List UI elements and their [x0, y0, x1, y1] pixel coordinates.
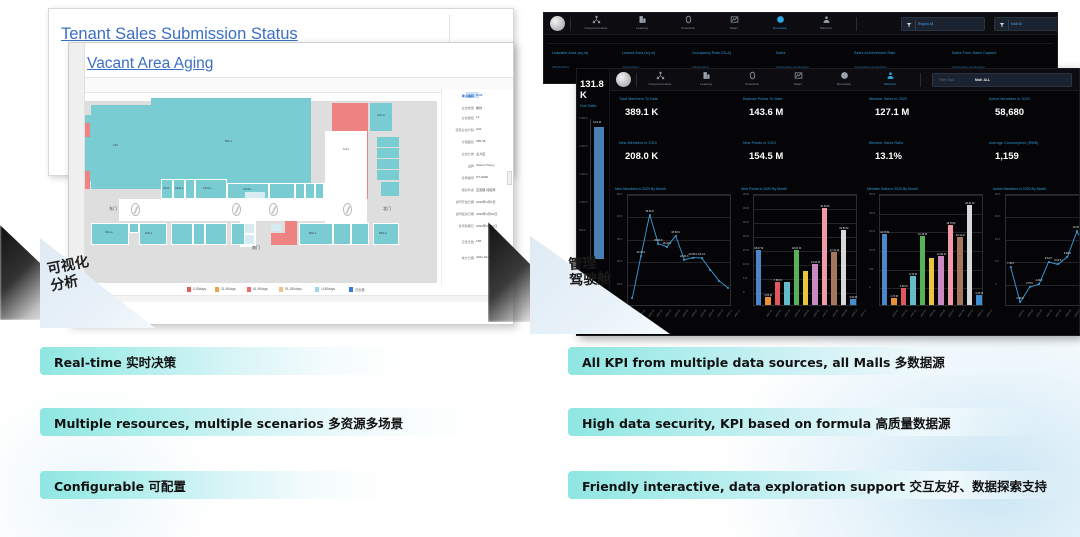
region-filter[interactable]: Region All: [901, 17, 985, 31]
chart-new-points[interactable]: New Points in 2020 By Month 35 M30 M25 M…: [741, 187, 859, 332]
feature-pill-label: Configurable 可配置: [54, 476, 186, 495]
kpi-value: 1,159: [995, 151, 1019, 162]
kpi-label: Sales: [776, 51, 786, 55]
floorplan-unit-vacant[interactable]: [271, 233, 285, 245]
chart-active-members[interactable]: Active Members in 2020 By Month 20 K15 K…: [993, 187, 1080, 332]
chart-bar[interactable]: [775, 282, 780, 305]
chart-bar[interactable]: [850, 299, 855, 305]
escalator-icon: [232, 203, 241, 216]
chart-xtick: 2020-11: [725, 309, 732, 318]
chart-bar[interactable]: [794, 250, 799, 305]
legend-label: 91-180days: [285, 287, 302, 291]
feature-pill-label: Friendly interactive, data exploration s…: [582, 476, 1047, 495]
detail-header-value: S-01: [476, 93, 483, 97]
feature-pill-security: High data security, KPI based on formula…: [568, 408, 1036, 436]
floorplan-unit-label: A016-L: [243, 189, 252, 192]
floorplan-unit[interactable]: [377, 170, 399, 180]
chart-xtick: 2020-08: [699, 309, 706, 318]
foot-traffic-bar[interactable]: [594, 127, 604, 259]
detail-row-key: 合同到期日: [459, 223, 474, 228]
chart-bar-label: 2.02 M: [845, 296, 861, 299]
kpi-value: 389.1 K: [625, 107, 658, 118]
legend-label: >180days: [321, 287, 335, 291]
person-icon: [822, 15, 831, 24]
chart-xtick: 2020-01: [1017, 309, 1024, 318]
chart-xtick: 2020-04: [794, 309, 801, 318]
nav-label: Comprehensive: [576, 26, 616, 30]
foot-traffic-label: Foot Traffic: [580, 104, 596, 108]
floorplan-unit[interactable]: [377, 148, 399, 158]
chart-bar[interactable]: [784, 282, 789, 305]
mall-filter[interactable]: Filter Mall: Mall: ALL: [932, 73, 1072, 87]
chart-ytick: 20 K: [995, 193, 1000, 196]
chart-ytick: 25 M: [869, 193, 875, 196]
nav-label: Member: [870, 82, 910, 86]
chart-ytick: 35 M: [743, 193, 749, 196]
chart-point-label: 8.02 K: [1049, 259, 1068, 262]
nav-separator: [636, 73, 637, 87]
mall-filter-label: Mall All: [1011, 22, 1022, 26]
chart-ytick: 30 K: [617, 238, 622, 241]
nav-item-member[interactable]: Member: [870, 71, 910, 90]
nav-item-sales[interactable]: Sales: [714, 15, 754, 34]
kpi-value: 58,680: [995, 107, 1024, 118]
member-dashboard-window[interactable]: 131.8 K Foot Traffic 2 500 K 2 000 K 1 5…: [576, 68, 1080, 336]
chart-point-label: 9.49 K: [1058, 252, 1077, 255]
chart-xtick: 2020-08: [831, 309, 838, 318]
floorplan-unit[interactable]: [171, 223, 193, 245]
kpi-row-divider: [548, 43, 1053, 44]
feature-pill-configurable: Configurable 可配置: [40, 471, 385, 499]
legend-label: 0-30days: [193, 287, 206, 291]
chart-point-label: 33.63 K: [667, 231, 684, 234]
floorplan-legend: 0-30days 31-60days 61-90days 91-180days …: [187, 285, 387, 294]
chart-plot-area: 20 K15 K10 K5 K07.46 K0.90 K3.75 K4.30 K…: [1005, 194, 1080, 306]
chart-xtick: 2020-09: [841, 309, 848, 318]
nav-label: Leasing: [686, 82, 726, 86]
mall-filter-prefix: Filter Mall:: [939, 78, 955, 82]
building-icon: [638, 15, 647, 24]
floorplan-unit-label: S-01: [343, 149, 349, 152]
chart-data-point[interactable]: [649, 214, 651, 216]
chart-xtick: 2020-03: [784, 309, 791, 318]
chart-ytick: 10 M: [869, 249, 875, 252]
detail-row-key: 计租面积: [462, 139, 474, 144]
floorplan-unit[interactable]: [205, 223, 227, 245]
kpi-value: 154.5 M: [749, 151, 783, 162]
chart-xtick: 2020-06: [1065, 309, 1072, 318]
detail-row-value: HT-0048: [476, 175, 488, 179]
chart-data-point[interactable]: [692, 257, 694, 259]
legend-swatch: [215, 287, 219, 291]
chart-plot-area: 25 M20 M15 M10 M5 M016.75 M1.70 M4.09 M6…: [879, 194, 983, 306]
chart-ytick: 15 M: [869, 230, 875, 233]
pie-icon: [840, 71, 849, 80]
chart-xtick: 2020-05: [673, 309, 680, 318]
chart-bar-label: 23.61 M: [962, 202, 978, 205]
nav-item-sales[interactable]: Sales: [778, 71, 818, 90]
chart-plot-area: 50 K40 K30 K20 K10 K24.23 K43.62 K29.90 …: [627, 194, 731, 306]
legend-label: 已出租: [355, 287, 365, 292]
escalator-icon: [269, 203, 278, 216]
detail-row-value: L1: [476, 115, 479, 119]
chart-xtick: 2020-07: [822, 309, 829, 318]
floorplan-canvas[interactable]: 东门 北门 南门 A01 B01-L S-01 C01-A A010: [85, 93, 437, 283]
chart-xtick: 2020-02: [647, 309, 654, 318]
kpi-label: Average Consumption (RMB): [989, 141, 1038, 145]
kpi-value: 208.0 K: [625, 151, 658, 162]
chart-xtick: 2020-05: [803, 309, 810, 318]
chart-bar-label: 2.25 M: [971, 292, 987, 295]
chart-title: Active Members in 2020 By Month: [993, 187, 1046, 191]
axis-tick: 2 500 K: [579, 117, 588, 120]
nav-label: Operation: [760, 26, 800, 30]
floorplan-unit[interactable]: [269, 183, 295, 199]
chart-bar[interactable]: [910, 276, 915, 305]
nav-item-operation[interactable]: Operation: [760, 15, 800, 34]
chart-title: New Points in 2020 By Month: [741, 187, 787, 191]
kpi-label: Sales Achievement Rate: [854, 51, 895, 55]
chart-bar[interactable]: [948, 225, 953, 305]
chart-xtick: 2020-04: [665, 309, 672, 318]
floorplan-unit[interactable]: [377, 159, 399, 169]
chart-xtick: 2020-09: [708, 309, 715, 318]
chart-bar[interactable]: [831, 252, 836, 305]
chart-bar[interactable]: [765, 297, 770, 305]
chart-data-point[interactable]: [666, 246, 668, 248]
filter-separator: [1008, 20, 1009, 30]
vacant-area-aging-title: Vacant Area Aging: [87, 55, 213, 73]
nav-item-financial[interactable]: Financial: [732, 71, 772, 90]
floorplan-unit[interactable]: [129, 223, 139, 233]
chart-gridline: [880, 195, 982, 196]
nav-item-member[interactable]: Member: [806, 15, 846, 34]
chart-data-point[interactable]: [727, 287, 729, 289]
escalator-icon: [131, 203, 140, 216]
chart-xtick: 2020-02: [775, 309, 782, 318]
axis-tick: 500 K: [579, 229, 586, 232]
floorplan-unit-vacant[interactable]: [85, 171, 90, 189]
kpi-label: Sales From Sales Capture: [952, 51, 997, 55]
chart-xtick: 2020-02: [1027, 309, 1034, 318]
chart-bar[interactable]: [929, 258, 934, 305]
chart-point-label: 7.46 K: [1001, 262, 1020, 265]
chart-gridline: [754, 223, 856, 224]
floorplan-unit-label: A012-L: [175, 188, 184, 191]
detail-row-key: 合同开始日期: [455, 199, 474, 204]
detail-row-key: 业态分类: [462, 151, 474, 156]
trend-icon: [730, 15, 739, 24]
kpi-sublabel: (03/31/2021): [552, 65, 569, 69]
kpi-label: Member Sales in 2020: [869, 97, 907, 101]
nav-label: Operation: [824, 82, 864, 86]
chart-bar-label: 18.79 M: [943, 222, 959, 225]
coin-icon: [748, 71, 757, 80]
chart-data-point[interactable]: [675, 235, 677, 237]
feature-pill-label: Multiple resources, multiple scenarios 多…: [54, 413, 403, 432]
legend-label: 61-90days: [253, 287, 268, 291]
coin-icon: [684, 15, 693, 24]
chart-bar[interactable]: [901, 288, 906, 305]
chart-ytick: 25 M: [743, 221, 749, 224]
legend-swatch: [279, 287, 283, 291]
kpi-value: 13.1%: [875, 151, 902, 162]
chart-bar[interactable]: [976, 295, 981, 305]
floorplan-unit-label: D02-L: [145, 233, 153, 236]
chart-ytick: 20 M: [743, 235, 749, 238]
chart-xtick: 2020-05: [929, 309, 936, 318]
chart-xtick: 2020-04: [1046, 309, 1053, 318]
floorplan-unit[interactable]: [271, 224, 281, 231]
floorplan-unit[interactable]: [91, 105, 151, 189]
feature-pill-label: High data security, KPI based on formula…: [582, 413, 951, 432]
chart-bar[interactable]: [812, 264, 817, 305]
kpi-label: Active Members in 2020: [989, 97, 1030, 101]
mall-filter-value: Mall: ALL: [975, 78, 990, 82]
panel-scroll-handle[interactable]: [507, 171, 512, 185]
chart-bar[interactable]: [841, 230, 846, 305]
detail-row-key: 品牌: [468, 163, 474, 168]
chart-member-sales[interactable]: Member Sales in 2020 By Month 25 M20 M15…: [867, 187, 985, 332]
detail-row-value: Sweet Honey: [476, 163, 494, 167]
floorplan-unit-vacant[interactable]: [285, 221, 297, 245]
detail-row-key: 经营业态代码: [455, 127, 474, 132]
kpi-label: Balance Points To Date: [743, 97, 783, 101]
floorplan-unit-label: A01: [113, 145, 118, 148]
feature-pill-realtime: Real-time 实时决策: [40, 347, 400, 375]
nav-separator: [570, 17, 571, 31]
nav-separator: [856, 17, 857, 31]
chart-gridline: [754, 209, 856, 210]
legend-swatch: [247, 287, 251, 291]
nav-item-leasing[interactable]: Leasing: [686, 71, 726, 90]
chart-bar[interactable]: [891, 298, 896, 305]
app-logo-icon: [616, 72, 631, 87]
chart-gridline: [754, 195, 856, 196]
floorplan-unit[interactable]: [381, 182, 399, 196]
detail-row-value: 空置期 待招商: [476, 187, 495, 192]
kpi-label: Member Sales Ratio: [869, 141, 903, 145]
chart-xtick: 2020-01: [765, 309, 772, 318]
chart-xtick: 2020-03: [656, 309, 663, 318]
detail-row-value: 2019年4月1日: [476, 199, 496, 204]
nav-item-financial[interactable]: Financial: [668, 15, 708, 34]
escalator-icon: [343, 203, 352, 216]
chart-bar-label: 16.18 M: [915, 233, 931, 236]
kpi-label: Occupancy Rate (GLA): [692, 51, 731, 55]
building-icon: [702, 71, 711, 80]
window-status-bar: [85, 295, 514, 302]
chart-bar[interactable]: [967, 205, 972, 305]
chart-ytick: 5 M: [743, 277, 747, 280]
chart-bar-label: 18.01 M: [789, 247, 805, 250]
nav-label: Sales: [778, 82, 818, 86]
chart-xtick: 2020-06: [682, 309, 689, 318]
chart-bar-label: 18.27 M: [751, 247, 767, 250]
chart-ytick: 10 M: [743, 263, 749, 266]
funnel-icon: [999, 21, 1005, 29]
detail-row-value: 2024年3月31日: [476, 211, 497, 216]
detail-row-value: 2024年3月31日: [476, 223, 497, 228]
pie-icon: [776, 15, 785, 24]
floorplan-unit[interactable]: [245, 235, 254, 244]
axis-line: [590, 119, 591, 259]
feature-pill-friendly: Friendly interactive, data exploration s…: [568, 471, 1068, 499]
chart-point-label: 14.25 K: [1067, 226, 1080, 229]
floorplan-door-label: 南门: [252, 245, 260, 251]
kpi-label: Leased Area (sq.m): [622, 51, 655, 55]
slide-canvas: Tenant Sales Submission Status Vacant Ar…: [0, 0, 1080, 537]
floorplan-unit[interactable]: [245, 224, 254, 233]
nav-item-leasing[interactable]: Leasing: [622, 15, 662, 34]
chart-ytick: 15 M: [743, 249, 749, 252]
chart-xtick: 2020-04: [920, 309, 927, 318]
detail-row-key: 业态层级: [462, 115, 474, 120]
detail-row-key: 业态类型: [462, 105, 474, 110]
chart-ytick: 10 K: [995, 238, 1000, 241]
detail-row-value: A01: [476, 127, 482, 131]
feature-pill-label: All KPI from multiple data sources, all …: [582, 352, 945, 371]
floorplan-unit-label: B01-L: [225, 141, 232, 144]
chart-xtick: 2020-08: [957, 309, 964, 318]
network-icon: [592, 15, 601, 24]
feature-pill-allkpi: All KPI from multiple data sources, all …: [568, 347, 1036, 375]
axis-tick: 2 000 K: [579, 145, 588, 148]
nav-label: Financial: [732, 82, 772, 86]
chart-ytick: 0: [869, 286, 870, 289]
vacant-area-aging-window[interactable]: Vacant Area Aging: [68, 42, 514, 325]
chart-plot-area: 35 M30 M25 M20 M15 M10 M5 M018.27 M2.52 …: [753, 194, 857, 306]
floorplan-unit-label: B05-A: [379, 233, 387, 236]
legend-swatch: [187, 287, 191, 291]
chart-ytick: 15 K: [995, 215, 1000, 218]
nav-item-comprehensive[interactable]: Comprehensive: [640, 71, 680, 90]
foot-traffic-bar-label: 3,13 M: [593, 121, 601, 124]
nav-label: Leasing: [622, 26, 662, 30]
floorplan-unit[interactable]: [377, 137, 399, 147]
chart-xtick: 2020-02: [901, 309, 908, 318]
trend-icon: [794, 71, 803, 80]
nav-label: Sales: [714, 26, 754, 30]
chart-bar[interactable]: [938, 256, 943, 305]
chart-title: Member Sales in 2020 By Month: [867, 187, 918, 191]
detail-row-key: 合同编号: [462, 175, 474, 180]
floorplan-unit[interactable]: [185, 179, 195, 199]
floorplan-unit-label: A014-L: [203, 188, 212, 191]
chart-xtick: 2020-01: [891, 309, 898, 318]
kpi-value: 127.1 M: [875, 107, 909, 118]
chart-bar[interactable]: [822, 208, 827, 305]
detail-row-value: 餐饮: [476, 105, 482, 110]
chart-point-label: 23.1 K: [693, 253, 710, 256]
detail-row-key: 空置天数: [462, 239, 474, 244]
nav-separator: [920, 73, 921, 87]
mall-filter[interactable]: Mall All: [994, 17, 1058, 31]
feature-pill-label: Real-time 实时决策: [54, 352, 176, 371]
floorplan-unit[interactable]: [245, 192, 265, 198]
chart-bar-label: 24.83 M: [836, 227, 852, 230]
axis-tick: 1 000 K: [579, 201, 588, 204]
background-glow-bottom-left: [0, 377, 220, 537]
detail-row-key: 合同结束日期: [455, 211, 474, 216]
filter-separator: [915, 20, 916, 30]
right-ribbon-label: 管理驾驶舱: [568, 253, 642, 289]
foot-traffic-value: 131.8 K: [580, 79, 609, 101]
chart-data-point[interactable]: [1029, 286, 1031, 288]
floorplan-unit[interactable]: [315, 183, 324, 199]
chart-ytick: 0: [743, 291, 744, 294]
chart-xtick: 2020-06: [939, 309, 946, 318]
kpi-label: Total Members To Date: [619, 97, 658, 101]
detail-row-value: 285.36: [476, 139, 485, 143]
chart-xtick: 2020-06: [813, 309, 820, 318]
chart-xtick: 2020-09: [967, 309, 974, 318]
chart-ytick: 50 K: [617, 193, 622, 196]
axis-tick: 1 500 K: [579, 173, 588, 176]
floorplan-unit[interactable]: [193, 223, 205, 245]
chart-bar[interactable]: [803, 271, 808, 305]
chart-data-point[interactable]: [718, 280, 720, 282]
dashboard-navbar-back[interactable]: Comprehensive Leasing Financial Sales Op…: [544, 13, 1057, 35]
chart-ytick: 40 K: [617, 215, 622, 218]
region-filter-label: Region All: [918, 22, 933, 26]
floorplan-unit[interactable]: [305, 183, 315, 199]
floorplan-door-label: 北门: [383, 206, 391, 212]
chart-point-label: 4.30 K: [1030, 279, 1049, 282]
detail-row-value: 主力店: [476, 151, 485, 156]
chart-ytick: 30 M: [743, 207, 749, 210]
floorplan-unit[interactable]: [231, 223, 245, 245]
floorplan-unit[interactable]: [333, 223, 351, 245]
detail-row-key: 租赁状态: [462, 187, 474, 192]
nav-label: Member: [806, 26, 846, 30]
floorplan-unit[interactable]: [139, 223, 167, 245]
kpi-value: 143.6 M: [749, 107, 783, 118]
chart-xtick: 2020-10: [717, 309, 724, 318]
app-logo-icon: [550, 16, 565, 31]
dashboard-navbar-front[interactable]: Comprehensive Leasing Financial Sales Op…: [610, 69, 1080, 91]
chart-point-label: 28.43 K: [658, 242, 675, 245]
chart-xtick: 2020-05: [1055, 309, 1062, 318]
floorplan-unit[interactable]: [295, 183, 305, 199]
kpi-label: New Members in 2020: [619, 141, 657, 145]
nav-item-operation[interactable]: Operation: [824, 71, 864, 90]
chart-bar-label: 32.00 M: [817, 205, 833, 208]
floorplan-unit-label: B02-L: [309, 233, 316, 236]
floorplan-unit[interactable]: [351, 223, 369, 245]
chart-title: New Members in 2020 By Month: [615, 187, 666, 191]
chart-xtick: 2020-07: [948, 309, 955, 318]
chart-ytick: 20 M: [869, 212, 875, 215]
chart-xtick: 2020-10: [850, 309, 857, 318]
chart-ytick: 0: [995, 283, 996, 286]
legend-swatch: [349, 287, 353, 291]
nav-label: Financial: [668, 26, 708, 30]
detail-header-key: 单元编码: [462, 93, 474, 98]
floorplan-unit-label: C01-A: [377, 115, 385, 118]
floorplan-unit-label: D01-a: [105, 232, 113, 235]
chart-data-point[interactable]: [701, 257, 703, 259]
floorplan-unit-vacant[interactable]: [85, 123, 90, 137]
chart-data-point[interactable]: [640, 255, 642, 257]
chart-xtick: 2020-10: [976, 309, 983, 318]
kpi-label: New Points in 2020: [743, 141, 776, 145]
chart-bar[interactable]: [920, 236, 925, 305]
chart-bar[interactable]: [957, 237, 962, 305]
legend-label: 31-60days: [221, 287, 236, 291]
chart-ytick: 5 M: [869, 268, 873, 271]
nav-item-comprehensive[interactable]: Comprehensive: [576, 15, 616, 34]
